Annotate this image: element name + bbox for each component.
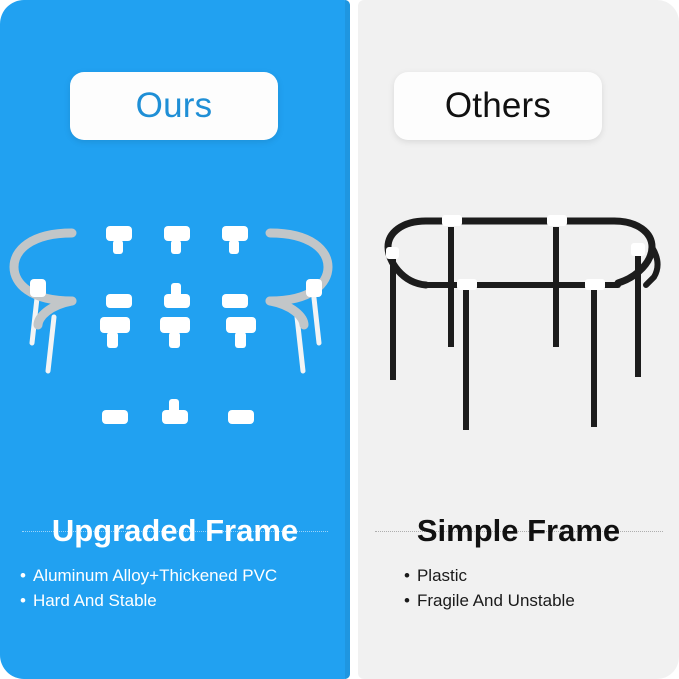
list-item-label: Plastic <box>417 566 467 585</box>
bullet-marker: • <box>404 591 410 610</box>
ours-divider <box>22 531 328 532</box>
list-item-label: Aluminum Alloy+Thickened PVC <box>33 566 277 585</box>
bullet-marker: • <box>404 566 410 585</box>
list-item-label: Hard And Stable <box>33 591 157 610</box>
list-item: •Fragile And Unstable <box>404 588 575 613</box>
list-item: •Aluminum Alloy+Thickened PVC <box>20 563 277 588</box>
others-frame-illustration <box>366 205 671 430</box>
list-item-label: Fragile And Unstable <box>417 591 575 610</box>
list-item: •Plastic <box>404 563 575 588</box>
others-badge: Others <box>394 72 602 140</box>
ours-badge-label: Ours <box>136 86 213 126</box>
list-item: •Hard And Stable <box>20 588 277 613</box>
others-badge-label: Others <box>445 86 551 126</box>
bullet-marker: • <box>20 591 26 610</box>
ours-badge: Ours <box>70 72 278 140</box>
bullet-marker: • <box>20 566 26 585</box>
others-divider <box>375 531 663 532</box>
ours-feature-list: •Aluminum Alloy+Thickened PVC •Hard And … <box>20 563 277 613</box>
comparison-infographic: Ours <box>0 0 679 679</box>
others-feature-list: •Plastic •Fragile And Unstable <box>404 563 575 613</box>
ours-frame-illustration <box>8 205 342 455</box>
